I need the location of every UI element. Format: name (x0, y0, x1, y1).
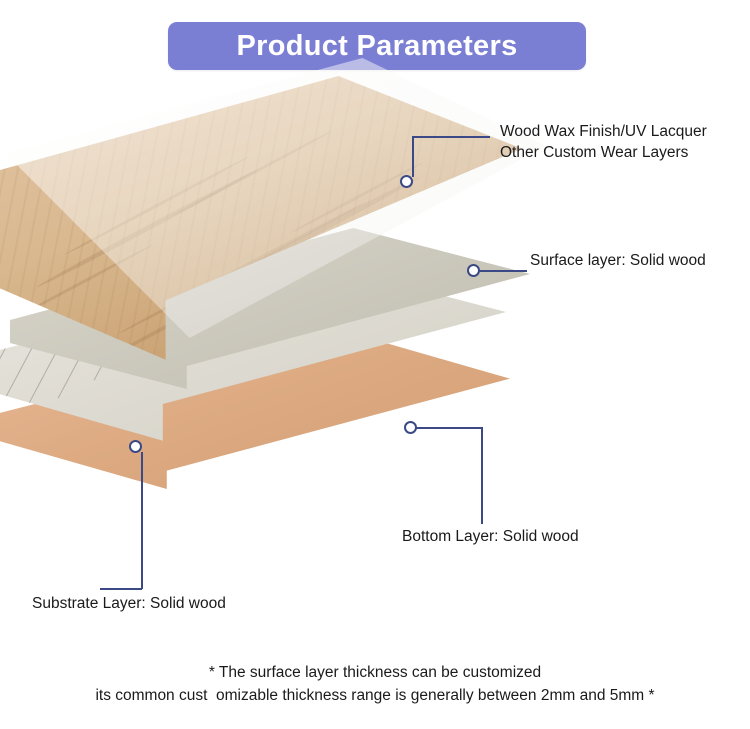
callout-label-wear-layer: Wood Wax Finish/UV Lacquer Other Custom … (500, 122, 750, 164)
callout-label-substrate-layer: Substrate Layer: Solid wood (32, 594, 312, 615)
footnote-line-1: * The surface layer thickness can be cus… (0, 661, 750, 684)
footnote-line-2: its common cust omizable thickness range… (0, 684, 750, 707)
callout-leader-wear-layer-vertical (412, 137, 414, 177)
callout-leader-bottom-layer-vertical (481, 427, 483, 524)
page-title: Product Parameters (236, 30, 517, 63)
callout-leader-surface-layer (479, 270, 527, 272)
flooring-layers-illustration (0, 60, 560, 640)
callout-label-bottom-layer: Bottom Layer: Solid wood (402, 527, 662, 548)
product-parameters-page: Product Parameters (0, 0, 750, 729)
footnote: * The surface layer thickness can be cus… (0, 661, 750, 708)
callout-leader-substrate-layer-vertical (141, 452, 143, 589)
callout-label-surface-layer: Surface layer: Solid wood (530, 251, 750, 272)
callout-leader-wear-layer-horizontal (412, 136, 490, 138)
callout-leader-substrate-layer-horizontal (100, 588, 142, 590)
callout-leader-bottom-layer-horizontal (416, 427, 482, 429)
